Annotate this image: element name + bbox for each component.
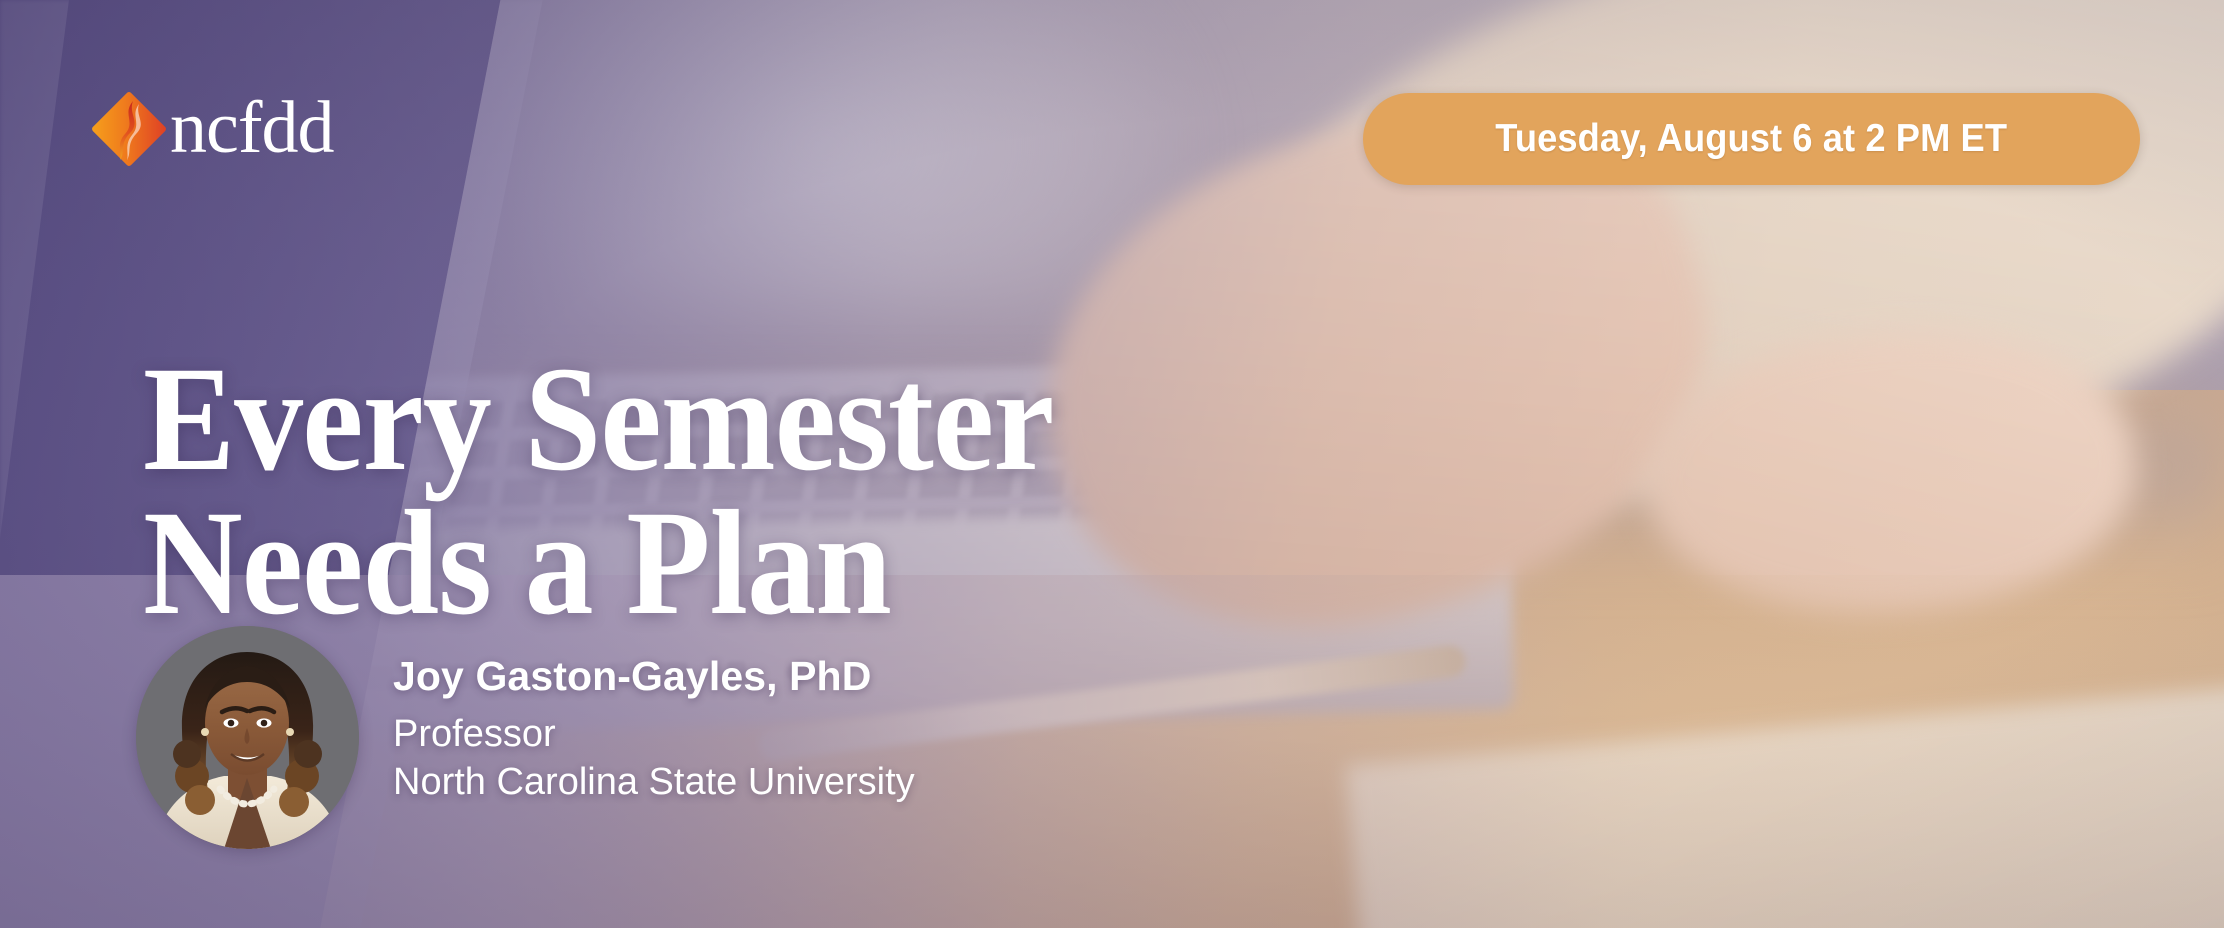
speaker-organization: North Carolina State University <box>393 760 915 806</box>
headline-line-2: Needs a Plan <box>143 491 1054 635</box>
ncfdd-logo[interactable]: ncfdd <box>92 92 334 166</box>
ncfdd-wordmark: ncfdd <box>170 100 334 158</box>
event-date-label: Tuesday, August 6 at 2 PM ET <box>1496 117 2008 161</box>
speaker-block: Joy Gaston-Gayles, PhD Professor North C… <box>136 626 915 849</box>
speaker-name: Joy Gaston-Gayles, PhD <box>393 654 915 700</box>
speaker-details: Joy Gaston-Gayles, PhD Professor North C… <box>393 626 915 805</box>
ncfdd-flame-diamond-icon <box>92 92 166 166</box>
headline-line-1: Every Semester <box>143 347 1054 491</box>
webinar-promo-banner: ncfdd Tuesday, August 6 at 2 PM ET Every… <box>0 0 2224 928</box>
speaker-role: Professor <box>393 712 915 758</box>
page-title: Every Semester Needs a Plan <box>143 347 1054 635</box>
avatar <box>136 626 359 849</box>
event-date-badge[interactable]: Tuesday, August 6 at 2 PM ET <box>1363 93 2140 185</box>
banner-content: ncfdd Tuesday, August 6 at 2 PM ET Every… <box>0 0 2224 928</box>
